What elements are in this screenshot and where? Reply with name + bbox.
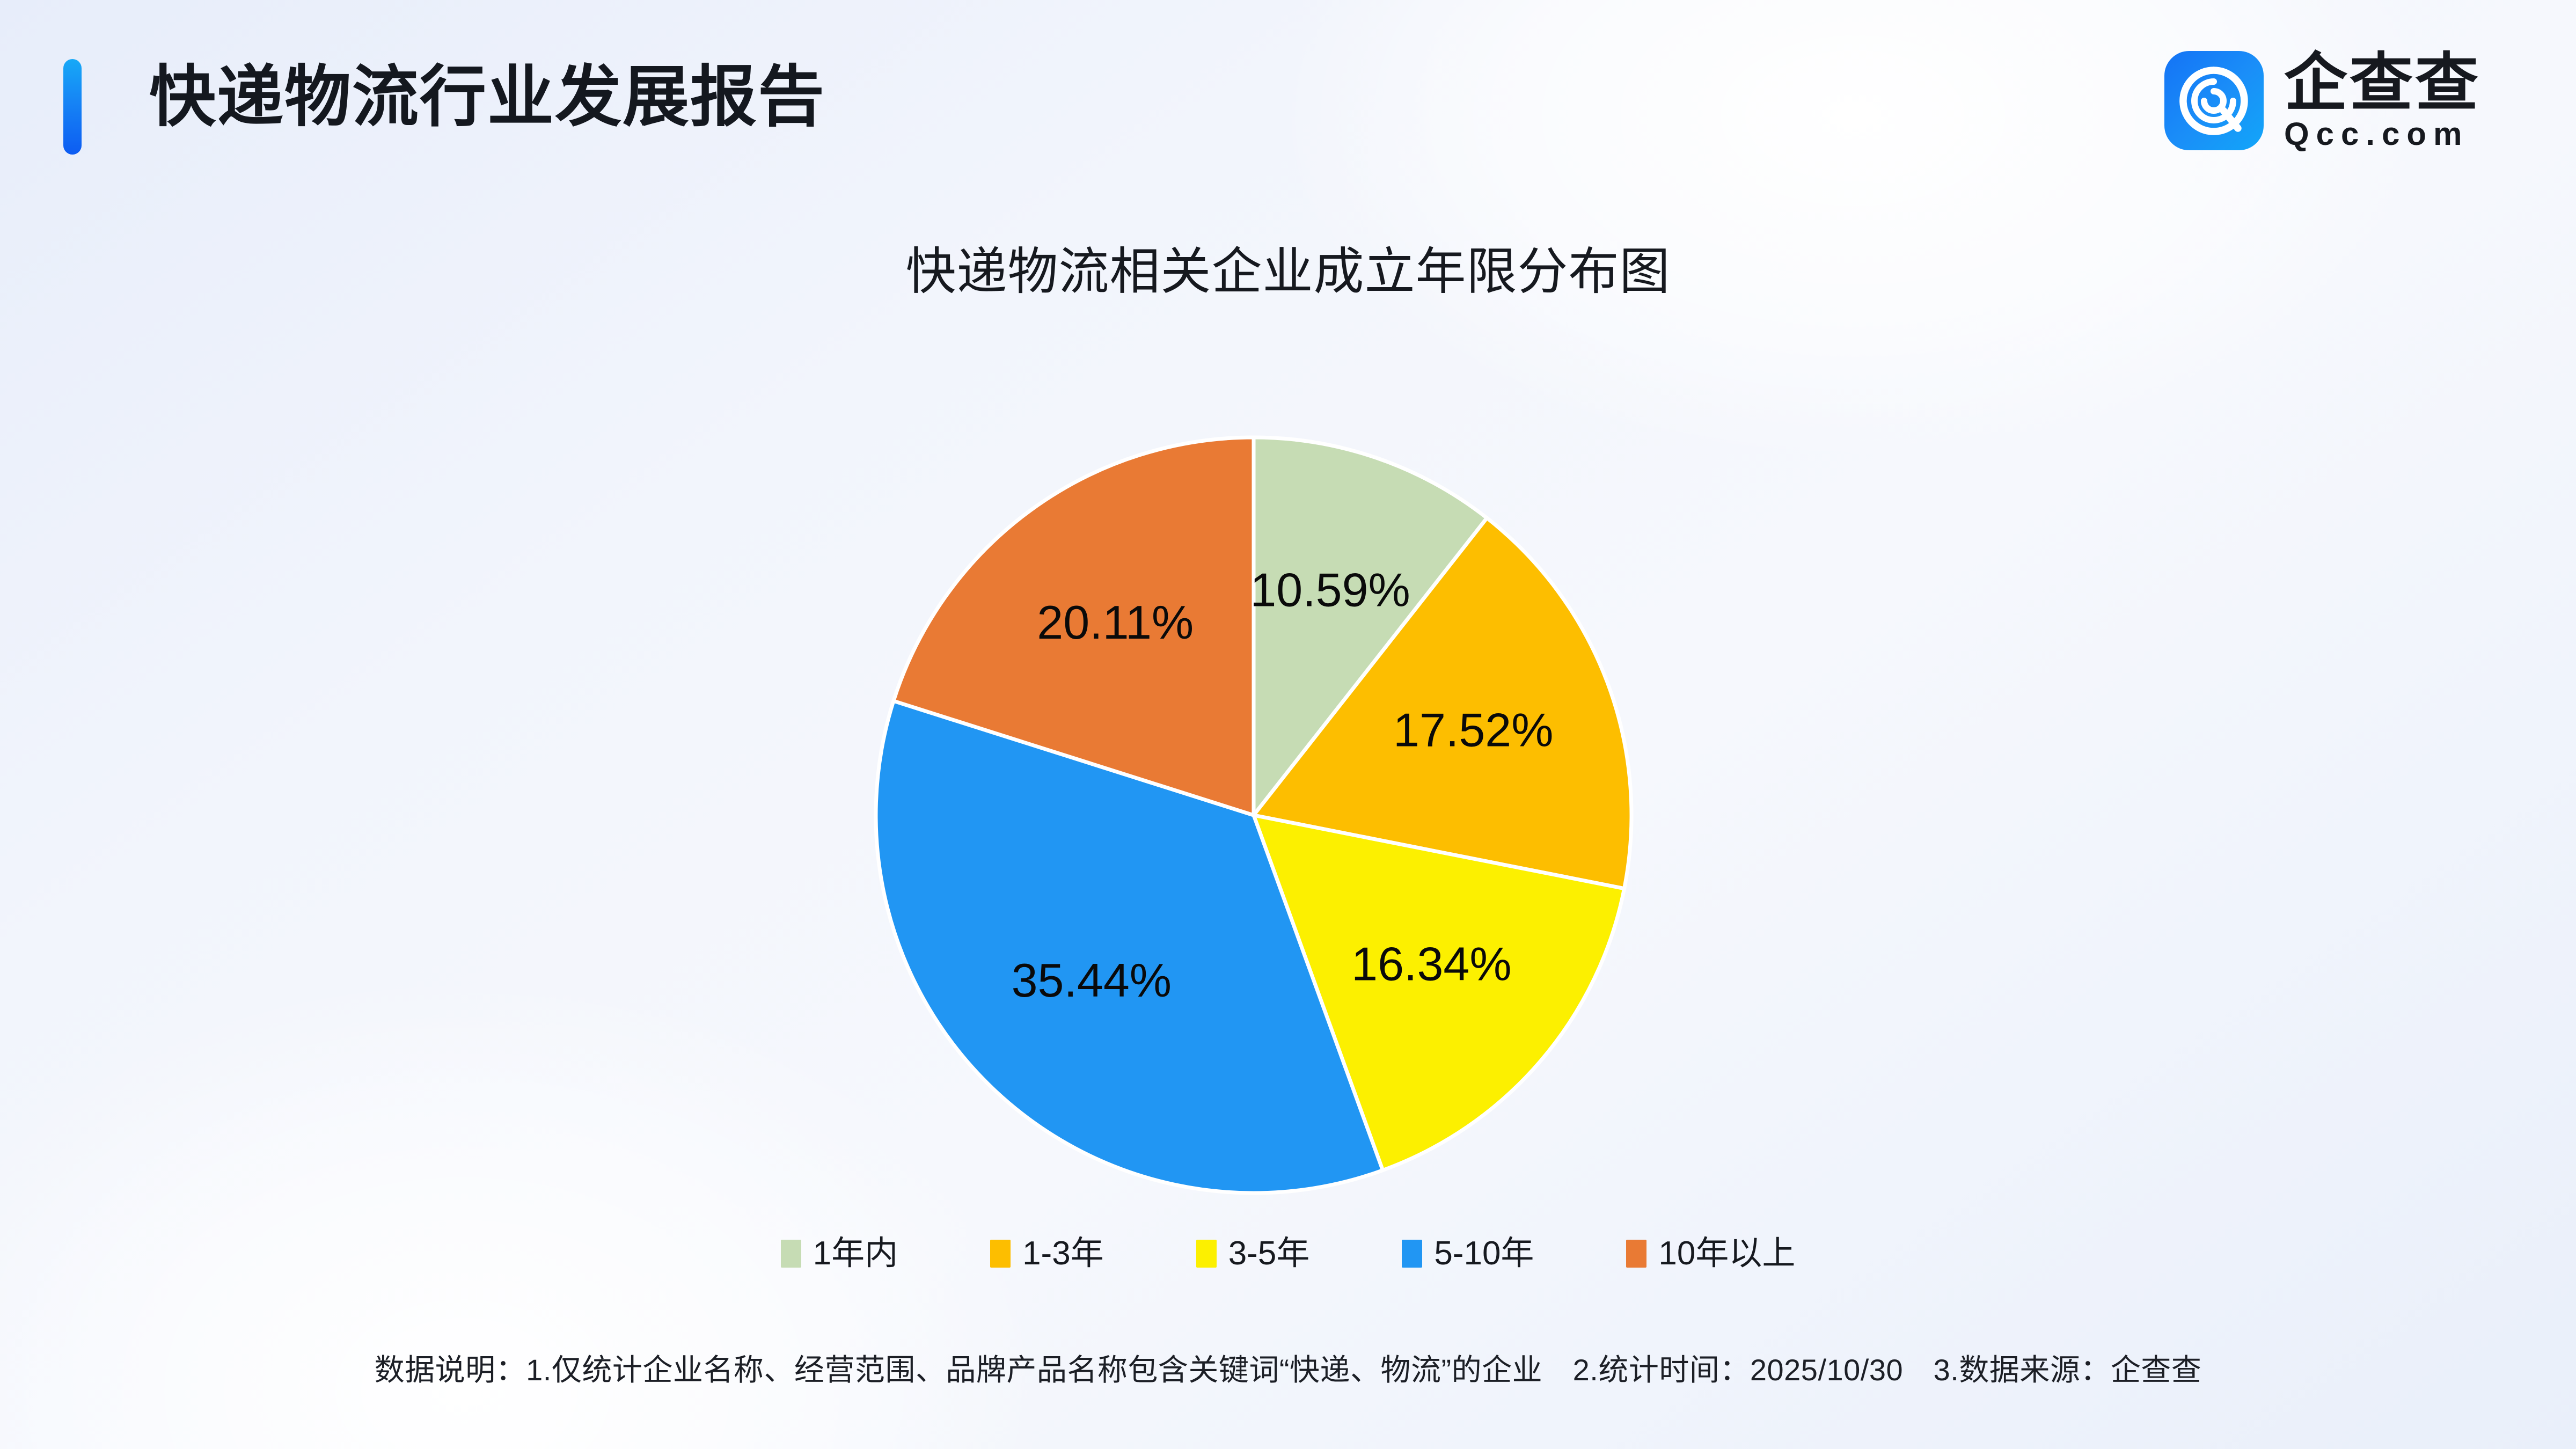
legend-item-label: 1年内 xyxy=(813,1237,898,1270)
brand-text: 企查查 Qcc.com xyxy=(2284,52,2480,150)
chart-legend: 1年内1-3年3-5年5-10年10年以上 xyxy=(0,1237,2576,1270)
page-header: 快递物流行业发展报告 企查查 Qcc.com xyxy=(0,0,2576,204)
legend-item[interactable]: 3-5年 xyxy=(1196,1237,1310,1270)
legend-swatch-icon xyxy=(990,1240,1011,1268)
legend-item-label: 10年以上 xyxy=(1658,1237,1795,1270)
legend-swatch-icon xyxy=(1402,1240,1422,1268)
brand-name-cn: 企查查 xyxy=(2284,52,2480,115)
page-title: 快递物流行业发展报告 xyxy=(149,49,825,146)
legend-item[interactable]: 10年以上 xyxy=(1626,1237,1795,1270)
pie-slice-label: 20.11% xyxy=(1037,596,1194,649)
pie-slice-label: 10.59% xyxy=(1250,563,1410,617)
legend-swatch-icon xyxy=(1626,1240,1646,1268)
legend-item-label: 3-5年 xyxy=(1228,1237,1310,1270)
pie-slice-label: 16.34% xyxy=(1351,937,1511,990)
footer-note: 数据说明：1.仅统计企业名称、经营范围、品牌产品名称包含关键词“快递、物流”的企… xyxy=(0,1346,2576,1389)
brand-logo: 企查查 Qcc.com xyxy=(2164,51,2480,150)
brand-name-en: Qcc.com xyxy=(2284,118,2480,150)
chart-title: 快递物流相关企业成立年限分布图 xyxy=(0,231,2576,304)
legend-swatch-icon xyxy=(1196,1240,1217,1268)
pie-chart-svg: 10.59%17.52%16.34%35.44%20.11% xyxy=(874,436,1633,1195)
legend-swatch-icon xyxy=(781,1240,801,1268)
pie-slice-label: 17.52% xyxy=(1393,704,1553,757)
legend-item-label: 1-3年 xyxy=(1022,1237,1104,1270)
legend-item[interactable]: 1年内 xyxy=(781,1237,898,1270)
legend-item[interactable]: 5-10年 xyxy=(1402,1237,1534,1270)
legend-item-label: 5-10年 xyxy=(1434,1237,1534,1270)
legend-item[interactable]: 1-3年 xyxy=(990,1237,1104,1270)
pie-chart: 10.59%17.52%16.34%35.44%20.11% xyxy=(874,436,1633,1195)
qcc-spiral-q-logo-icon xyxy=(2164,51,2264,150)
pie-slice-label: 35.44% xyxy=(1012,954,1172,1007)
infographic-poster: 快递物流行业发展报告 企查查 Qcc.com 快递物流相关企业成立年限分布图 xyxy=(0,0,2576,1449)
title-accent-bar xyxy=(63,59,82,155)
